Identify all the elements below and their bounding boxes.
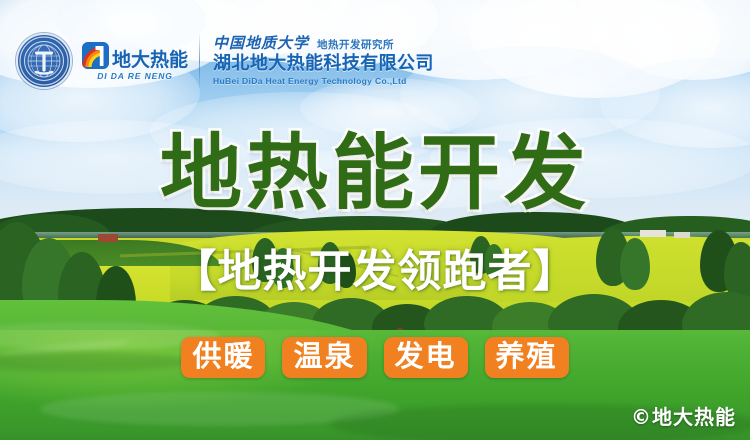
distant-village — [640, 230, 666, 237]
banner-image: 地大热能 DI DA RE NENG 中国地质大学 地热开发研究所 湖北地大热能… — [0, 0, 750, 440]
service-badge-heating[interactable]: 供暖 — [181, 337, 265, 378]
dida-rainbow-mark-icon — [82, 42, 109, 69]
institute-name: 地热开发研究所 — [317, 39, 394, 51]
header-divider — [199, 34, 200, 88]
distant-barn — [98, 234, 118, 242]
organization-block: 中国地质大学 地热开发研究所 湖北地大热能科技有限公司 HuBei DiDa H… — [213, 35, 434, 87]
brand-header: 地大热能 DI DA RE NENG 中国地质大学 地热开发研究所 湖北地大热能… — [16, 28, 434, 94]
service-badge-list: 供暖 温泉 发电 养殖 — [0, 337, 750, 378]
university-name: 中国地质大学 — [213, 35, 309, 51]
company-name-cn: 湖北地大热能科技有限公司 — [213, 53, 434, 75]
service-badge-hotspring[interactable]: 温泉 — [282, 337, 366, 378]
dida-brand-en: DI DA RE NENG — [97, 71, 173, 81]
subtitle-tagline: 【地热开发领跑者】 — [0, 246, 750, 298]
headline-title: 地热能开发 — [0, 131, 750, 217]
university-seal-icon — [16, 33, 72, 89]
service-badge-aquaculture[interactable]: 养殖 — [485, 337, 569, 378]
dida-brand-cn: 地大热能 — [112, 51, 188, 70]
copyright-watermark: ©地大热能 — [631, 405, 736, 429]
distant-village — [674, 232, 690, 238]
service-badge-powergen[interactable]: 发电 — [384, 337, 468, 378]
dida-brand: 地大热能 DI DA RE NENG — [82, 42, 188, 81]
company-name-en: HuBei DiDa Heat Energy Technology Co.,Lt… — [213, 76, 434, 87]
